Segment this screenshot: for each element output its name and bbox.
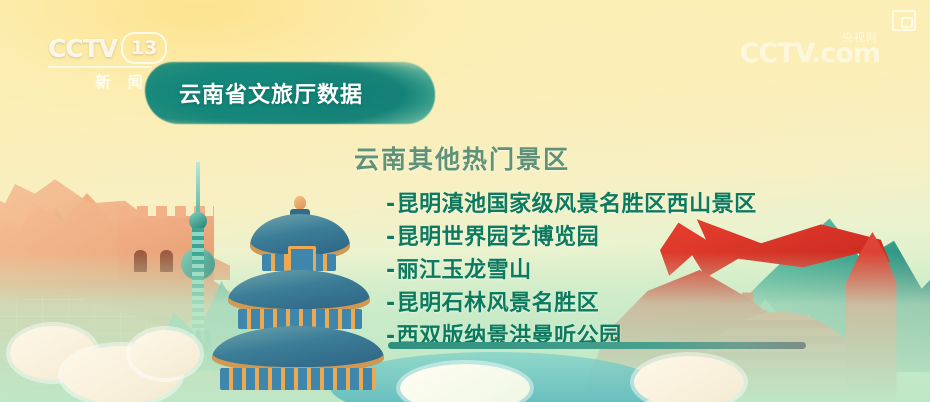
content-panel: 云南其他热门景区 -昆明滇池国家级风景名胜区西山景区 -昆明世界园艺博览园 -丽… bbox=[352, 140, 822, 353]
cloud-illustration bbox=[10, 326, 96, 380]
cloud-illustration bbox=[634, 356, 744, 402]
panel-underline bbox=[388, 342, 806, 349]
list-item-label: 昆明滇池国家级风景名胜区西山景区 bbox=[397, 192, 757, 217]
scenic-area-list: -昆明滇池国家级风景名胜区西山景区 -昆明世界园艺博览园 -丽江玉龙雪山 -昆明… bbox=[352, 188, 822, 353]
list-item-dash: - bbox=[386, 291, 396, 316]
list-item-label: 昆明世界园艺博览园 bbox=[397, 225, 600, 250]
list-item: -昆明世界园艺博览园 bbox=[386, 221, 822, 254]
list-item-dash: - bbox=[386, 225, 396, 250]
great-wall-brick-illustration bbox=[0, 290, 170, 385]
source-banner: 云南省文旅厅数据 bbox=[145, 62, 435, 124]
broadcast-graphic: CCTV 13 新 闻 央视网 CCTV.com 云南省文旅厅数据 云南其他热门… bbox=[0, 0, 930, 402]
list-item-dash: - bbox=[386, 192, 396, 217]
cloud-illustration bbox=[400, 364, 530, 402]
channel-brand-text: CCTV bbox=[48, 34, 117, 63]
oriental-pearl-tower-illustration bbox=[176, 162, 220, 372]
logo-divider bbox=[48, 66, 152, 68]
source-banner-label: 云南省文旅厅数据 bbox=[179, 77, 363, 109]
water-illustration bbox=[330, 352, 660, 402]
list-item: -昆明滇池国家级风景名胜区西山景区 bbox=[386, 188, 822, 221]
list-item-label: 丽江玉龙雪山 bbox=[397, 258, 532, 283]
mountain-illustration-center bbox=[150, 250, 280, 370]
mountain-illustration-left-back bbox=[0, 188, 180, 298]
site-watermark: 央视网 CCTV.com bbox=[740, 38, 880, 69]
great-wall-illustration bbox=[0, 170, 285, 400]
page-title: 云南其他热门景区 bbox=[354, 140, 822, 176]
channel-number: 13 bbox=[121, 32, 167, 64]
red-tower-illustration bbox=[810, 232, 930, 402]
picture-in-picture-icon[interactable] bbox=[892, 10, 916, 31]
great-wall-upper-illustration bbox=[0, 160, 230, 280]
list-item-label: 昆明石林风景名胜区 bbox=[397, 291, 600, 316]
great-wall-watchtower-illustration bbox=[118, 216, 214, 308]
great-wall-ramp-illustration bbox=[90, 262, 390, 402]
list-item: -丽江玉龙雪山 bbox=[386, 254, 822, 287]
cloud-illustration bbox=[130, 330, 200, 378]
cloud-illustration bbox=[62, 346, 180, 402]
list-item: -昆明石林风景名胜区 bbox=[386, 287, 822, 320]
mountain-illustration-left-front bbox=[0, 232, 140, 322]
list-item-dash: - bbox=[386, 258, 396, 283]
site-watermark-cn: 央视网 bbox=[842, 29, 878, 45]
